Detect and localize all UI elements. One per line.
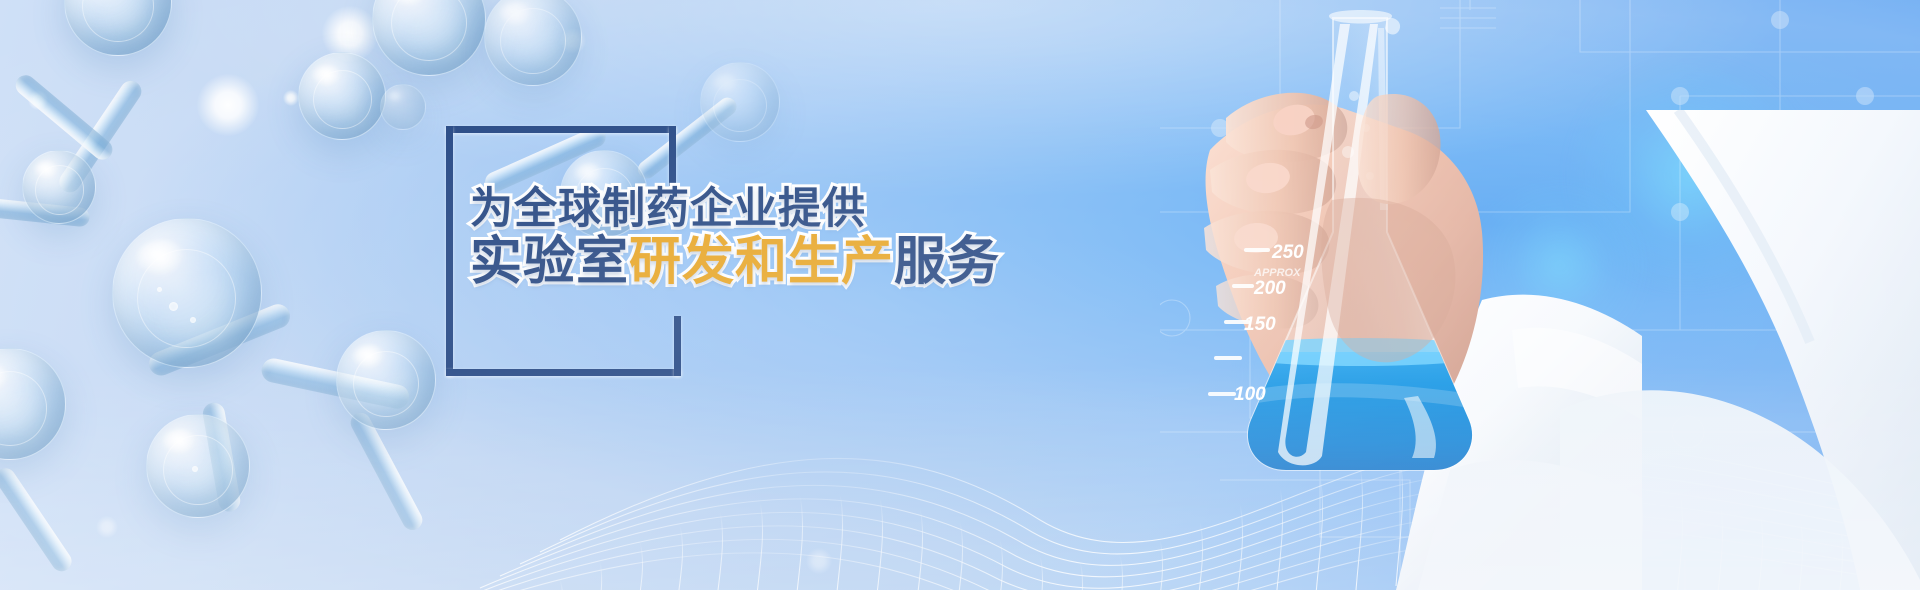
banner-root: 250 200 150 100 APPROX bbox=[0, 0, 1920, 590]
background-vignette bbox=[0, 0, 1920, 590]
